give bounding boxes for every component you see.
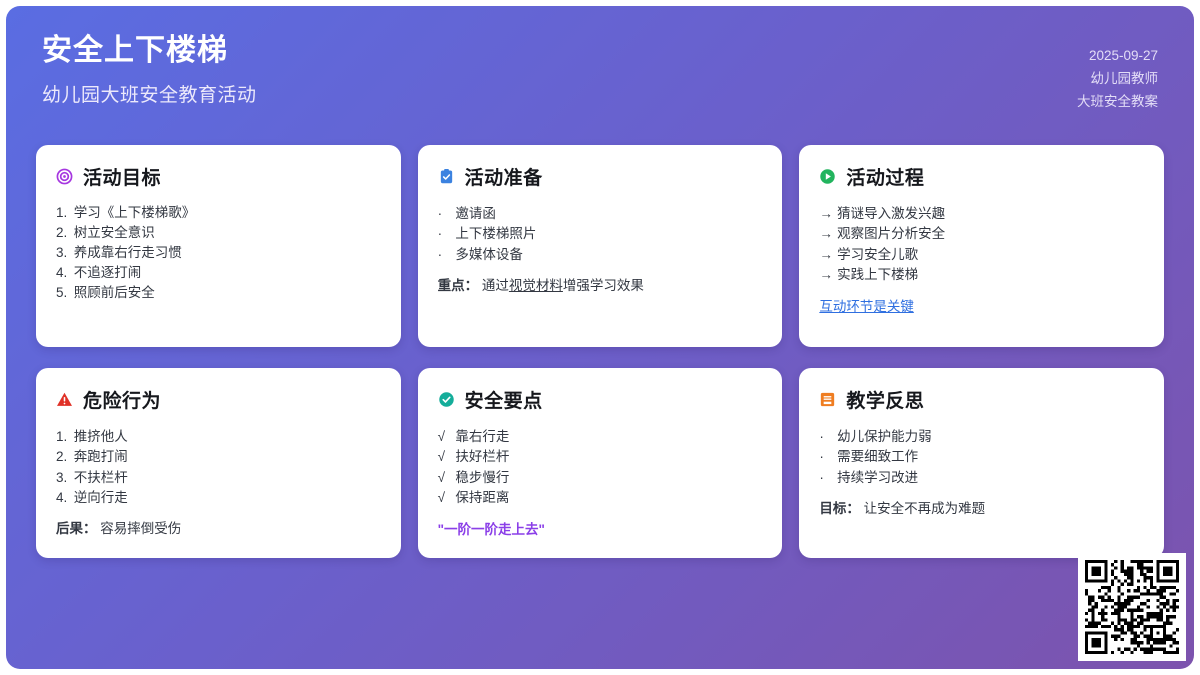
page-subtitle: 幼儿园大班安全教育活动	[42, 80, 257, 107]
card-note-highlight: 视觉材料	[509, 278, 563, 293]
card-title: 活动过程	[846, 163, 924, 190]
list-item-label: 保持距离	[455, 490, 509, 505]
list-item-marker: √	[438, 491, 452, 505]
card-header: 活动过程	[819, 163, 1144, 190]
list-item: · 幼儿保护能力弱	[819, 426, 1144, 447]
qr-code-container[interactable]	[1078, 553, 1186, 661]
book-icon	[819, 391, 836, 408]
list-item: √ 稳步慢行	[438, 467, 763, 488]
card-objectives: 活动目标1. 学习《上下楼梯歌》2. 树立安全意识3. 养成靠右行走习惯4. 不…	[36, 145, 401, 347]
list-item-marker: 3.	[56, 246, 70, 260]
list-item-marker: √	[438, 430, 452, 444]
card-note: 重点： 通过视觉材料增强学习效果	[438, 274, 763, 294]
list-item-label: 靠右行走	[455, 429, 509, 444]
target-icon	[56, 168, 73, 185]
card-footer-quote: "一阶一阶走上去"	[438, 518, 763, 538]
list-item-label: 不追逐打闹	[74, 265, 142, 280]
list-item-marker: 2.	[56, 450, 70, 464]
card-preparation: 活动准备· 邀请函· 上下楼梯照片· 多媒体设备重点： 通过视觉材料增强学习效果	[418, 145, 783, 347]
card-note-text: 容易摔倒受伤	[100, 521, 181, 536]
list-item: √ 保持距离	[438, 488, 763, 509]
list-item-label: 幼儿保护能力弱	[837, 429, 932, 444]
card-item-list: · 邀请函· 上下楼梯照片· 多媒体设备	[438, 203, 763, 265]
list-item: √ 扶好栏杆	[438, 447, 763, 468]
cards-grid: 活动目标1. 学习《上下楼梯歌》2. 树立安全意识3. 养成靠右行走习惯4. 不…	[36, 145, 1164, 558]
list-item-label: 推挤他人	[74, 429, 128, 444]
list-item-label: 观察图片分析安全	[837, 226, 945, 241]
list-item-label: 不扶栏杆	[74, 470, 128, 485]
card-item-list: 1. 推挤他人2. 奔跑打闹3. 不扶栏杆4. 逆向行走	[56, 426, 381, 508]
card-note-label: 后果：	[56, 521, 97, 536]
list-item-marker: 1.	[56, 430, 70, 444]
list-item-marker: 3.	[56, 471, 70, 485]
list-item-marker: 5.	[56, 286, 70, 300]
list-item-label: 扶好栏杆	[455, 449, 509, 464]
page-title: 安全上下楼梯	[42, 32, 257, 70]
card-header: 教学反思	[819, 386, 1144, 413]
list-item: 1. 推挤他人	[56, 426, 381, 447]
list-item-marker: 4.	[56, 266, 70, 280]
card-process: 活动过程→ 猜谜导入激发兴趣→ 观察图片分析安全→ 学习安全儿歌→ 实践上下楼梯…	[799, 145, 1164, 347]
list-item-label: 需要细致工作	[837, 449, 918, 464]
card-title: 教学反思	[846, 386, 924, 413]
card-title: 安全要点	[465, 386, 543, 413]
list-item: 3. 不扶栏杆	[56, 467, 381, 488]
list-item: √ 靠右行走	[438, 426, 763, 447]
list-item: → 观察图片分析安全	[819, 224, 1144, 245]
list-item-marker: ·	[438, 207, 452, 221]
check-circle-icon	[438, 391, 455, 408]
list-item-marker: √	[438, 450, 452, 464]
list-item-label: 多媒体设备	[455, 247, 523, 262]
card-note-label: 重点：	[438, 278, 479, 293]
list-item-label: 猜谜导入激发兴趣	[837, 206, 945, 221]
list-item-label: 照顾前后安全	[74, 285, 155, 300]
card-note: 后果： 容易摔倒受伤	[56, 517, 381, 537]
meta-date: 2025-09-27	[1077, 44, 1158, 67]
list-item-label: 实践上下楼梯	[837, 267, 918, 282]
card-note: 目标： 让安全不再成为难题	[819, 497, 1144, 517]
list-item: · 持续学习改进	[819, 467, 1144, 488]
list-item: → 学习安全儿歌	[819, 244, 1144, 265]
card-header: 安全要点	[438, 386, 763, 413]
warning-triangle-icon	[56, 391, 73, 408]
list-item-marker: ·	[819, 430, 833, 444]
list-item-label: 逆向行走	[74, 490, 128, 505]
card-note-text: 通过	[482, 278, 509, 293]
card-item-list: → 猜谜导入激发兴趣→ 观察图片分析安全→ 学习安全儿歌→ 实践上下楼梯	[819, 203, 1144, 285]
header-meta: 2025-09-27 幼儿园教师 大班安全教案	[1077, 32, 1158, 114]
list-item-marker: ·	[819, 471, 833, 485]
list-item: · 需要细致工作	[819, 447, 1144, 468]
list-item-label: 稳步慢行	[455, 470, 509, 485]
list-item: 3. 养成靠右行走习惯	[56, 243, 381, 263]
list-item-label: 养成靠右行走习惯	[74, 245, 182, 260]
list-item: · 上下楼梯照片	[438, 224, 763, 245]
card-header: 危险行为	[56, 386, 381, 413]
list-item-marker: 1.	[56, 206, 70, 220]
card-title: 危险行为	[83, 386, 161, 413]
meta-author: 幼儿园教师	[1077, 67, 1158, 90]
card-header: 活动目标	[56, 163, 381, 190]
card-note-text-end: 增强学习效果	[563, 278, 644, 293]
list-item-marker: →	[819, 227, 833, 241]
list-item-marker: √	[438, 471, 452, 485]
list-item-label: 学习《上下楼梯歌》	[74, 205, 196, 220]
list-item-label: 奔跑打闹	[74, 449, 128, 464]
list-item: 4. 不追逐打闹	[56, 263, 381, 283]
card-dangerous-behavior: 危险行为1. 推挤他人2. 奔跑打闹3. 不扶栏杆4. 逆向行走后果： 容易摔倒…	[36, 368, 401, 558]
poster-header: 安全上下楼梯 幼儿园大班安全教育活动 2025-09-27 幼儿园教师 大班安全…	[6, 6, 1194, 136]
list-item-label: 上下楼梯照片	[455, 226, 536, 241]
list-item-label: 学习安全儿歌	[837, 247, 918, 262]
play-circle-icon	[819, 168, 836, 185]
list-item-marker: →	[819, 207, 833, 221]
card-title: 活动目标	[83, 163, 161, 190]
card-teaching-reflection: 教学反思· 幼儿保护能力弱· 需要细致工作· 持续学习改进目标： 让安全不再成为…	[799, 368, 1164, 558]
card-note-label: 目标：	[819, 501, 860, 516]
card-item-list: √ 靠右行走√ 扶好栏杆√ 稳步慢行√ 保持距离	[438, 426, 763, 508]
list-item-marker: 2.	[56, 226, 70, 240]
list-item: 5. 照顾前后安全	[56, 283, 381, 303]
list-item: → 实践上下楼梯	[819, 265, 1144, 286]
list-item: · 邀请函	[438, 203, 763, 224]
card-item-list: 1. 学习《上下楼梯歌》2. 树立安全意识3. 养成靠右行走习惯4. 不追逐打闹…	[56, 203, 381, 302]
list-item-marker: ·	[819, 450, 833, 464]
list-item-marker: ·	[438, 248, 452, 262]
list-item-marker: 4.	[56, 491, 70, 505]
list-item: → 猜谜导入激发兴趣	[819, 203, 1144, 224]
card-title: 活动准备	[465, 163, 543, 190]
header-left: 安全上下楼梯 幼儿园大班安全教育活动	[42, 32, 257, 107]
list-item: 4. 逆向行走	[56, 488, 381, 509]
list-item-label: 树立安全意识	[74, 225, 155, 240]
list-item: 2. 树立安全意识	[56, 223, 381, 243]
list-item-label: 持续学习改进	[837, 470, 918, 485]
qr-code[interactable]	[1085, 560, 1179, 654]
list-item-label: 邀请函	[455, 206, 496, 221]
clipboard-check-icon	[438, 168, 455, 185]
list-item: 2. 奔跑打闹	[56, 447, 381, 468]
list-item: · 多媒体设备	[438, 244, 763, 265]
card-footer-link[interactable]: 互动环节是关键	[819, 295, 1144, 315]
list-item-marker: ·	[438, 227, 452, 241]
card-note-text: 让安全不再成为难题	[864, 501, 986, 516]
meta-category: 大班安全教案	[1077, 90, 1158, 113]
card-safety-points: 安全要点√ 靠右行走√ 扶好栏杆√ 稳步慢行√ 保持距离"一阶一阶走上去"	[418, 368, 783, 558]
card-item-list: · 幼儿保护能力弱· 需要细致工作· 持续学习改进	[819, 426, 1144, 488]
card-header: 活动准备	[438, 163, 763, 190]
list-item-marker: →	[819, 268, 833, 282]
list-item-marker: →	[819, 248, 833, 262]
list-item: 1. 学习《上下楼梯歌》	[56, 203, 381, 223]
poster-canvas: 安全上下楼梯 幼儿园大班安全教育活动 2025-09-27 幼儿园教师 大班安全…	[6, 6, 1194, 669]
